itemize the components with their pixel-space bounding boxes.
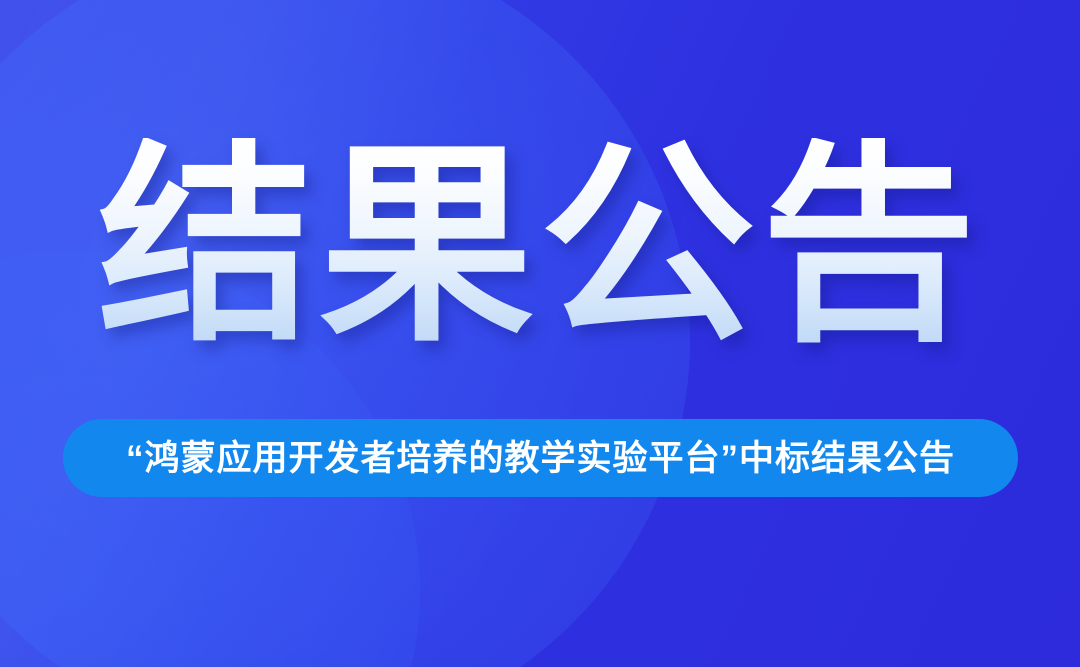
page-title: 结果公告 [98, 138, 982, 353]
subtitle-banner: “鸿蒙应用开发者培养的教学实验平台”中标结果公告 [63, 419, 1018, 497]
poster-canvas: 结果公告 “鸿蒙应用开发者培养的教学实验平台”中标结果公告 [0, 0, 1080, 667]
subtitle-text: “鸿蒙应用开发者培养的教学实验平台”中标结果公告 [126, 441, 955, 476]
headline-container: 结果公告 [0, 138, 1080, 353]
